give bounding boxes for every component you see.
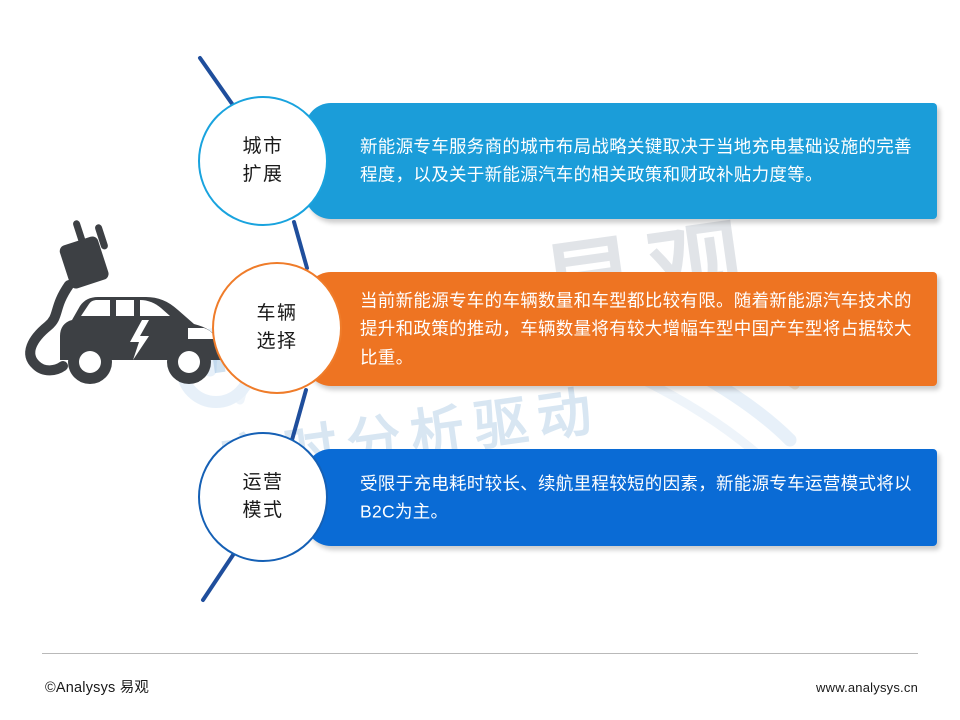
- stage-circle-operating-model[interactable]: 运营 模式: [198, 432, 328, 562]
- footer-divider: [42, 653, 918, 654]
- content-bar-3: 受限于充电耗时较长、续航里程较短的因素，新能源专车运营模式将以B2C为主。: [305, 449, 937, 546]
- content-bar-1: 新能源专车服务商的城市布局战略关键取决于当地充电基础设施的完善程度，以及关于新能…: [305, 103, 937, 219]
- content-text-2: 当前新能源专车的车辆数量和车型都比较有限。随着新能源汽车技术的提升和政策的推动，…: [360, 286, 919, 371]
- stage-label-vehicle-selection: 车辆 选择: [256, 300, 297, 355]
- footer-copyright: ©Analysys 易观: [45, 676, 149, 697]
- content-bar-2: 当前新能源专车的车辆数量和车型都比较有限。随着新能源汽车技术的提升和政策的推动，…: [305, 272, 937, 386]
- footer-website[interactable]: www.analysys.cn: [816, 680, 918, 695]
- connector-2-3: [292, 390, 306, 440]
- content-text-1: 新能源专车服务商的城市布局战略关键取决于当地充电基础设施的完善程度，以及关于新能…: [360, 133, 919, 190]
- stage-label-operating-model: 运营 模式: [242, 469, 283, 524]
- connector-bottom-stub: [203, 552, 235, 600]
- content-text-3: 受限于充电耗时较长、续航里程较短的因素，新能源专车运营模式将以B2C为主。: [360, 469, 919, 526]
- connector-top-stub: [200, 58, 235, 108]
- stage-circle-vehicle-selection[interactable]: 车辆 选择: [212, 262, 342, 394]
- stage-label-city-expansion: 城市 扩展: [242, 133, 283, 188]
- slide-canvas: 易观 nalysys 实时分析驱动: [0, 0, 960, 720]
- stage-circle-city-expansion[interactable]: 城市 扩展: [198, 96, 328, 226]
- electric-car-charging-icon: [18, 208, 248, 403]
- connector-1-2: [294, 222, 307, 268]
